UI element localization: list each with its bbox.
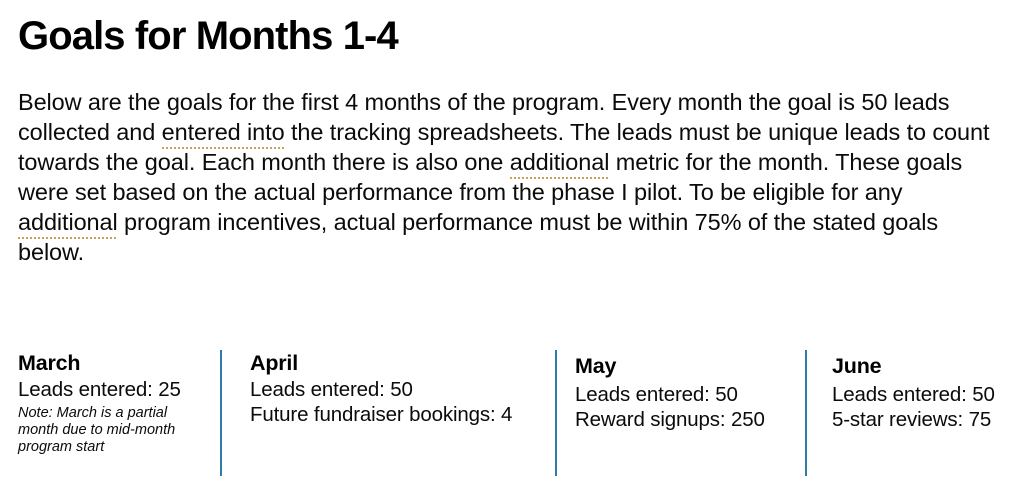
month-metric-list: Leads entered: 25 (18, 376, 206, 402)
page-title: Goals for Months 1-4 (18, 0, 1006, 61)
month-heading: May (575, 350, 791, 379)
style-suggestion-entered-into[interactable]: entered into (162, 119, 285, 145)
month-column-march: March Leads entered: 25 Note: March is a… (18, 350, 220, 476)
month-column-june: June Leads entered: 50 5-star reviews: 7… (805, 350, 1006, 476)
paragraph-segment-4: program incentives, actual performance m… (18, 209, 938, 265)
style-suggestion-additional-1[interactable]: additional (510, 149, 610, 175)
month-heading: April (250, 350, 541, 376)
month-heading: June (832, 350, 992, 379)
month-column-may: May Leads entered: 50 Reward signups: 25… (555, 350, 805, 476)
document-page: Goals for Months 1-4 Below are the goals… (0, 0, 1024, 498)
month-metric-list: Leads entered: 50 5-star reviews: 75 (832, 379, 992, 432)
month-metric-list: Leads entered: 50 Reward signups: 250 (575, 379, 791, 432)
metric-item: Reward signups: 250 (575, 407, 791, 432)
metric-item: 5-star reviews: 75 (832, 407, 992, 432)
metric-item: Leads entered: 50 (575, 382, 791, 407)
month-note: Note: March is a partial month due to mi… (18, 402, 203, 456)
month-heading: March (18, 350, 206, 376)
metric-item: Future fundraiser bookings: 4 (250, 402, 541, 427)
intro-paragraph: Below are the goals for the first 4 mont… (18, 61, 1006, 267)
metric-item: Leads entered: 25 (18, 377, 206, 402)
month-goals-row: March Leads entered: 25 Note: March is a… (18, 350, 1006, 476)
month-metric-list: Leads entered: 50 Future fundraiser book… (250, 376, 541, 427)
metric-item: Leads entered: 50 (832, 382, 992, 407)
metric-item: Leads entered: 50 (250, 377, 541, 402)
month-column-april: April Leads entered: 50 Future fundraise… (220, 350, 555, 476)
style-suggestion-additional-2[interactable]: additional (18, 209, 118, 235)
